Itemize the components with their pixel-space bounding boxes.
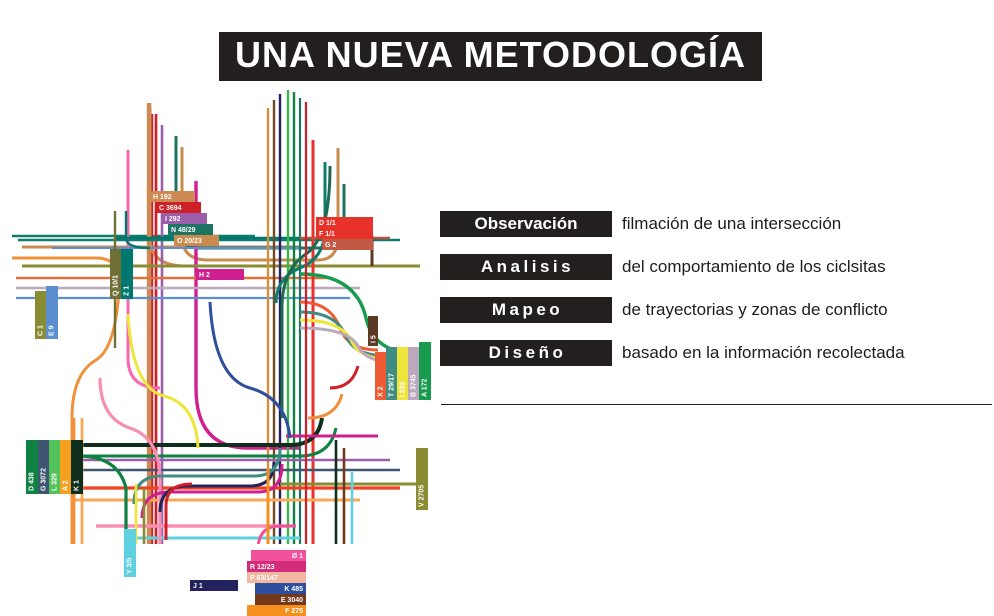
diagram-label-d-1-1: D 1/1 <box>316 217 373 228</box>
diagram-label-a-2: A 2 <box>60 440 71 494</box>
list-item: Analisis del comportamiento de los cicls… <box>440 253 992 281</box>
diagram-label-k-485: K 485 <box>255 583 306 594</box>
diagram-label-c-1: C 1 <box>35 291 46 339</box>
steps-divider <box>441 404 992 405</box>
diagram-label-g-2: G 2 <box>322 239 373 250</box>
diagram-label-n-48-29: N 48/29 <box>168 224 213 235</box>
diagram-label-j-1: J 1 <box>190 580 238 591</box>
diagram-label-p-63-147: P 63/147 <box>247 572 306 583</box>
diagram-label-x-2: X 2 <box>375 352 386 400</box>
step-desc-mapeo: de trayectorias y zonas de conflicto <box>622 300 888 320</box>
diagram-label-f-275: F 275 <box>247 605 306 616</box>
diagram-label-1: Ø 1 <box>251 550 306 561</box>
step-desc-diseno: basado en la información recolectada <box>622 343 905 363</box>
diagram-label-h-2: H 2 <box>196 269 244 280</box>
diagram-label-d-438: D 438 <box>26 440 38 494</box>
page-root: UNA NUEVA METODOLOGÍA <box>0 0 994 544</box>
diagram-label-t-29-17: T 29/17 <box>386 347 397 400</box>
diagram-label-i-5: I 5 <box>368 316 378 346</box>
page-title: UNA NUEVA METODOLOGÍA <box>219 32 762 81</box>
list-item: Mapeo de trayectorias y zonas de conflic… <box>440 296 992 324</box>
step-chip-observacion: Observación <box>440 211 612 237</box>
diagram-label-e-3040: E 3040 <box>255 594 306 605</box>
diagram-label-h-192: H 192 <box>150 191 195 202</box>
diagram-label-v-2705: V 2705 <box>416 448 428 510</box>
diagram-label-b-3745: B 3745 <box>408 347 419 400</box>
diagram-label-f-1-1: F 1/1 <box>316 228 373 239</box>
diagram-label-c-3694: C 3694 <box>156 202 201 213</box>
step-chip-mapeo: Mapeo <box>440 297 612 323</box>
step-chip-diseno: Diseño <box>440 340 612 366</box>
diagram-label-i-292: I 292 <box>397 347 408 400</box>
diagram-label-q-10-1: Q 10/1 <box>110 249 121 299</box>
diagram-label-k-1: K 1 <box>71 440 83 494</box>
methodology-step-list: Observación filmación de una intersecció… <box>440 210 992 382</box>
diagram-label-l-329: L 329 <box>49 440 60 494</box>
diagram-label-i-292: I 292 <box>162 213 207 224</box>
diagram-label-o-20-23: O 20/23 <box>174 235 219 246</box>
step-desc-analisis: del comportamiento de los ciclsitas <box>622 257 886 277</box>
diagram-label-y-3-5: Y 3/5 <box>124 529 136 577</box>
diagram-label-r-12-23: R 12/23 <box>247 561 306 572</box>
diagram-label-z-1: Z 1 <box>121 249 133 299</box>
list-item: Observación filmación de una intersecció… <box>440 210 992 238</box>
diagram-label-e-9: E 9 <box>46 286 58 339</box>
step-chip-analisis: Analisis <box>440 254 612 280</box>
intersection-trajectory-diagram: H 192C 3694I 292N 48/29O 20/23D 1/1F 1/1… <box>0 88 452 544</box>
diagram-label-g-3072: G 3072 <box>38 440 49 494</box>
list-item: Diseño basado en la información recolect… <box>440 339 992 367</box>
diagram-label-a-172: A 172 <box>419 342 431 400</box>
step-desc-observacion: filmación de una intersección <box>622 214 841 234</box>
